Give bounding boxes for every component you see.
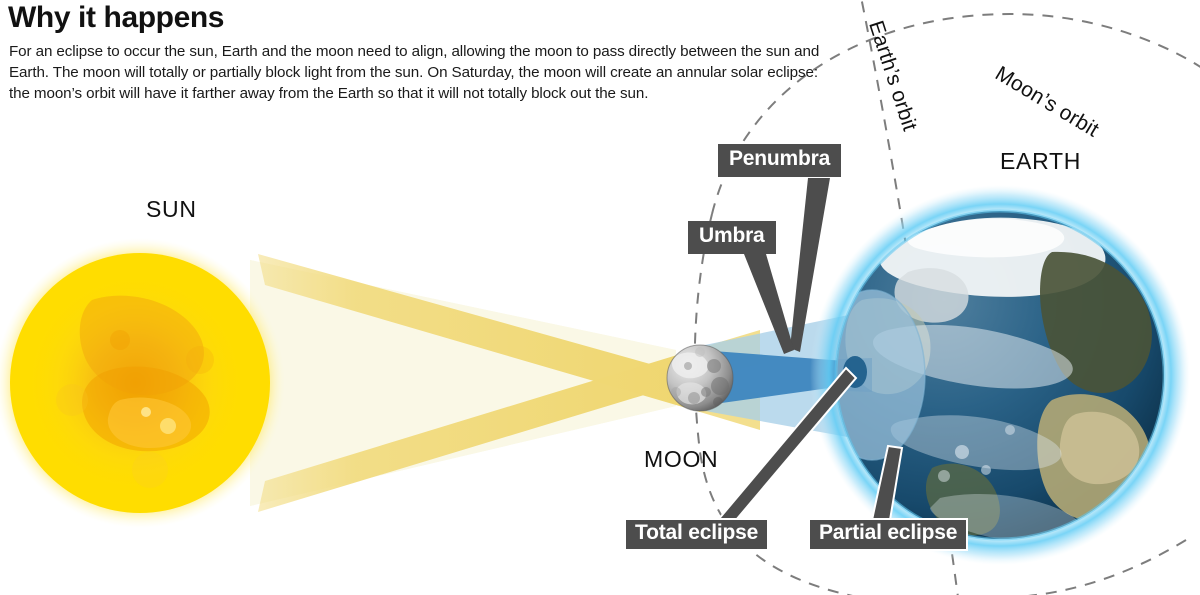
total-eclipse-callout: Total eclipse (624, 518, 769, 551)
sun-graphic (0, 238, 285, 528)
page-title: Why it happens (8, 2, 224, 34)
sun-surface-texture (24, 267, 256, 499)
earth-label: EARTH (1000, 148, 1081, 175)
earth-graphic (810, 185, 1190, 565)
moon-label: MOON (644, 446, 718, 473)
partial-eclipse-callout: Partial eclipse (808, 518, 968, 551)
eclipse-infographic: Why it happens For an eclipse to occur t… (0, 0, 1200, 595)
sun-label: SUN (146, 196, 197, 223)
moon-graphic (667, 345, 733, 411)
umbra-callout: Umbra (688, 221, 776, 254)
intro-paragraph: For an eclipse to occur the sun, Earth a… (9, 42, 829, 104)
penumbra-callout: Penumbra (718, 144, 841, 177)
